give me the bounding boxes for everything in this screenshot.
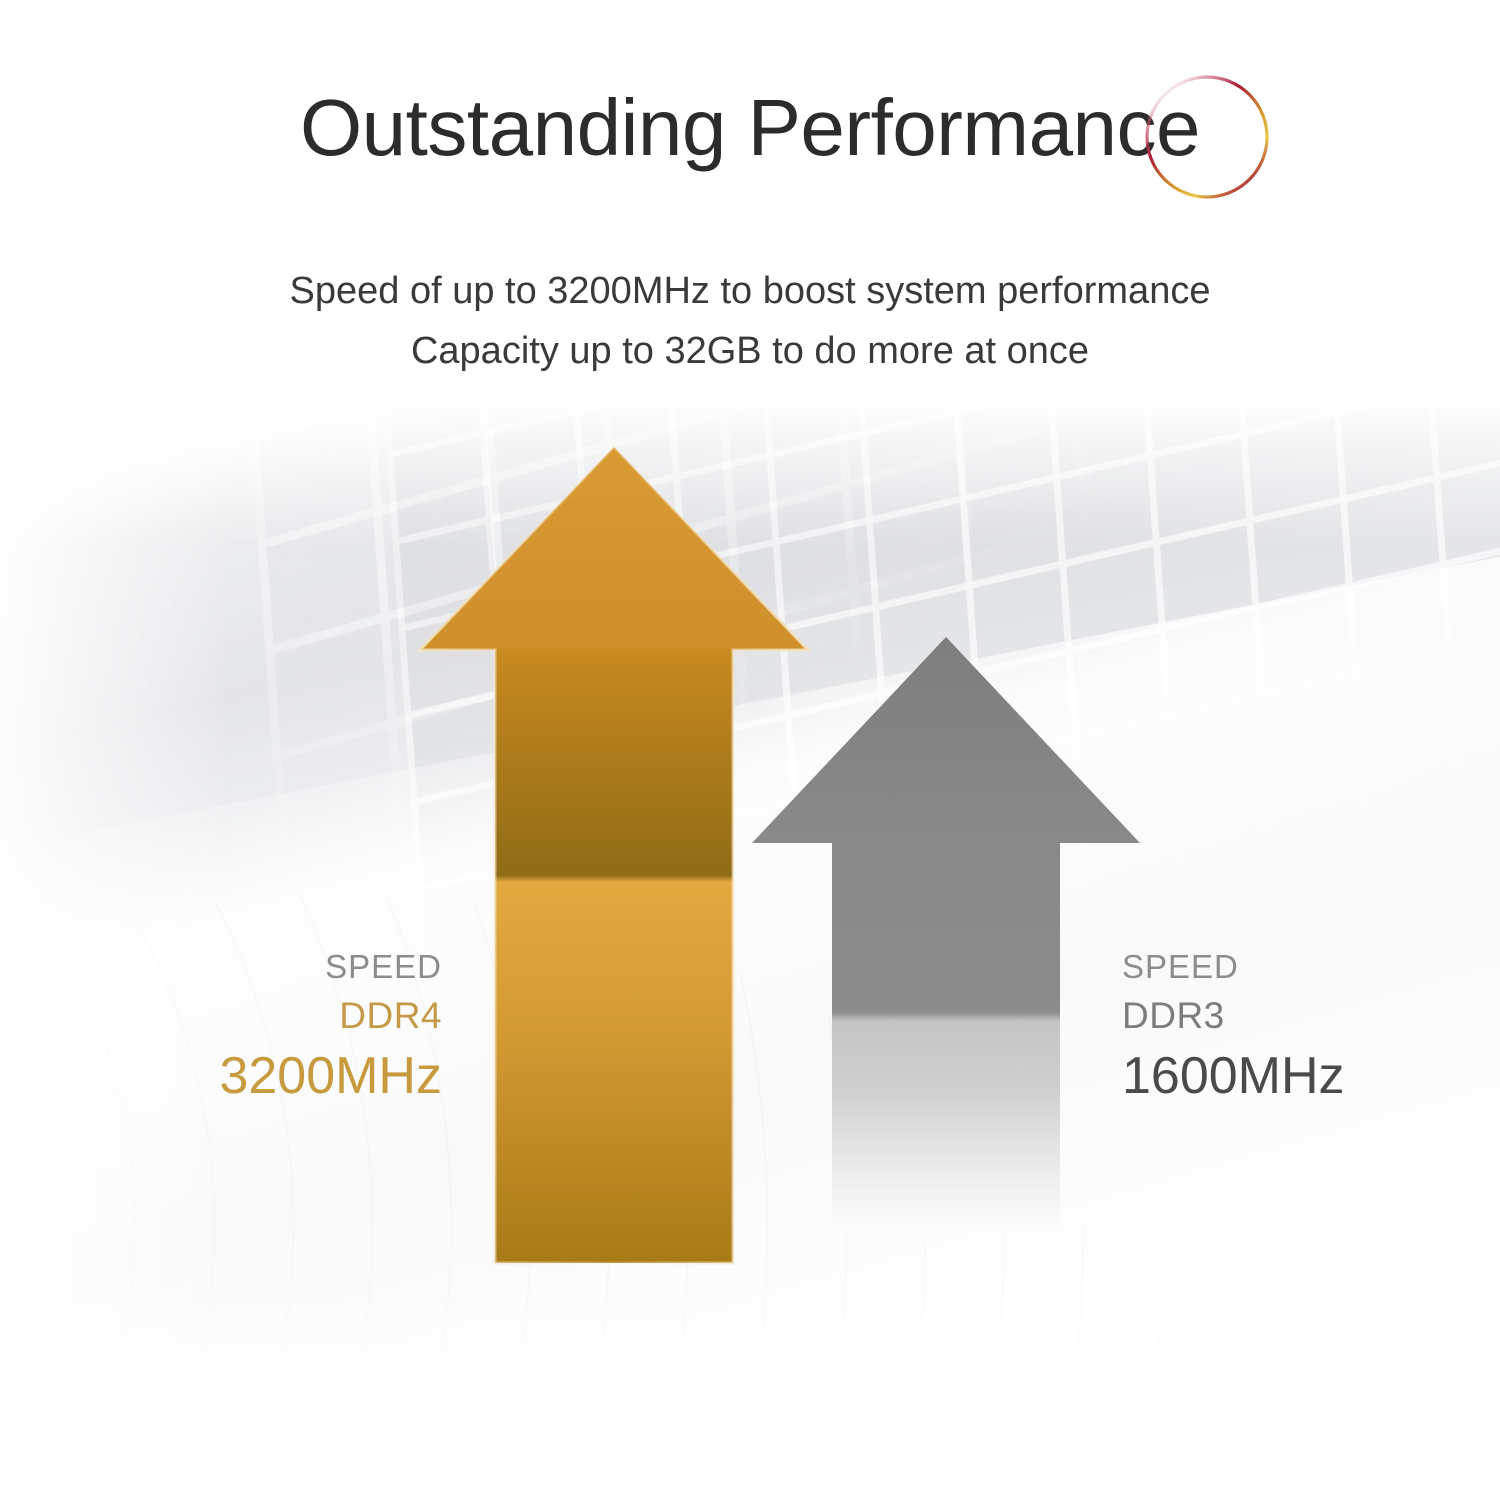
title-wrapper: Outstanding Performance [300, 88, 1200, 168]
ddr4-metric-label: SPEED [120, 950, 442, 983]
page-title: Outstanding Performance [300, 88, 1200, 168]
ddr4-label-block: SPEED DDR4 3200MHz [120, 950, 442, 1102]
gradient-ring-icon [1142, 72, 1272, 202]
ddr3-metric-label: SPEED [1122, 950, 1462, 983]
ddr3-speed-value: 1600MHz [1122, 1050, 1462, 1102]
subtitle-line-2: Capacity up to 32GB to do more at once [0, 332, 1500, 370]
ddr3-up-arrow-icon [750, 635, 1142, 1235]
photo-fade-left [0, 395, 230, 1418]
ddr3-generation-label: DDR3 [1122, 997, 1462, 1034]
ddr3-label-block: SPEED DDR3 1600MHz [1122, 950, 1462, 1102]
subtitle-line-1: Speed of up to 3200MHz to boost system p… [0, 272, 1500, 310]
ddr4-generation-label: DDR4 [120, 997, 442, 1034]
ddr4-speed-value: 3200MHz [120, 1050, 442, 1102]
infographic-canvas: Outstanding Performance Speed of up to 3… [0, 0, 1500, 1500]
header: Outstanding Performance [0, 88, 1500, 168]
